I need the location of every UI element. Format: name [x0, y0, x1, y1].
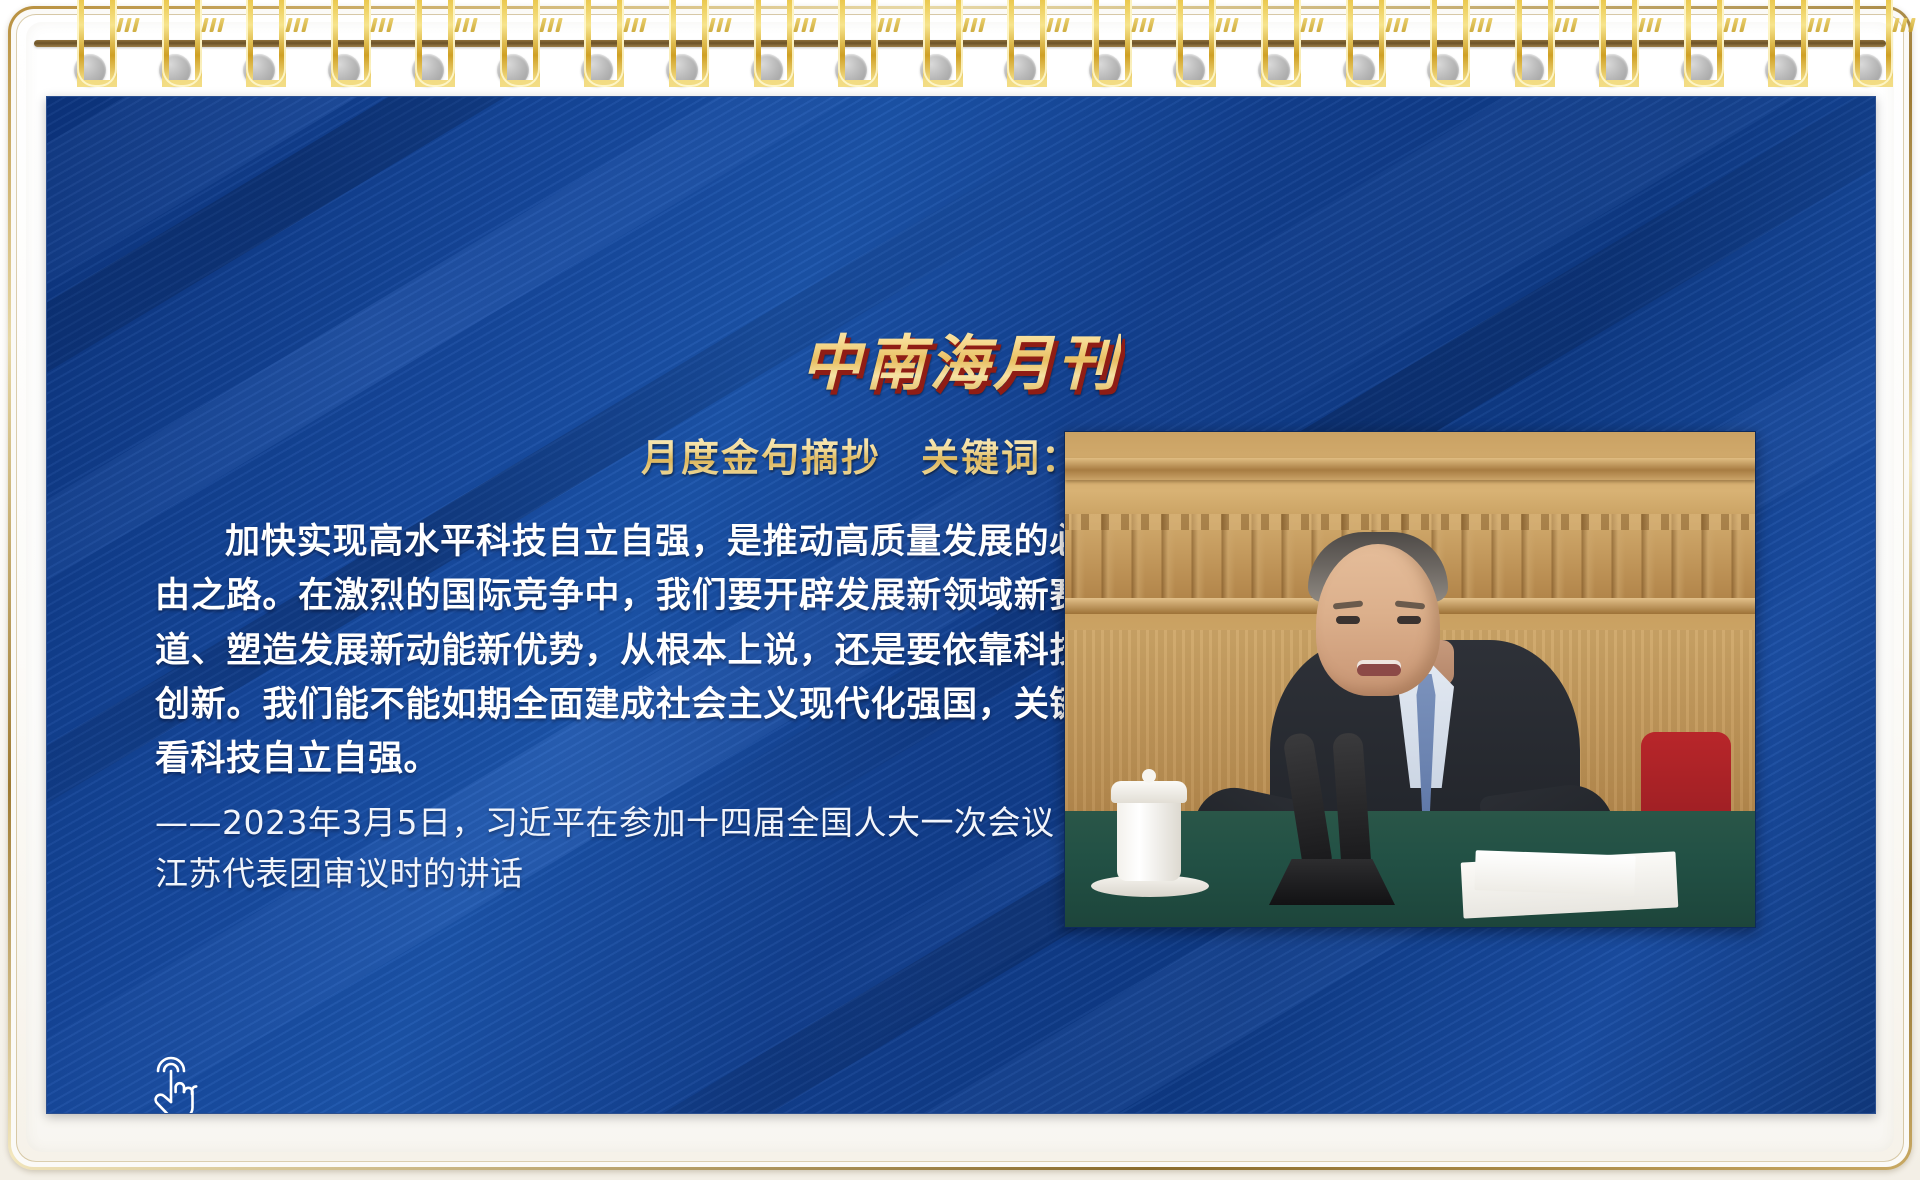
- tap-gesture-icon[interactable]: [142, 1052, 206, 1114]
- poster-card: 中南海月刊 月度金句摘抄 关键词：高质量发展 加快实现高水平科技自立自强，是推动…: [46, 96, 1876, 1114]
- title-container: 中南海月刊: [47, 315, 1875, 402]
- notebook-page: 中南海月刊 月度金句摘抄 关键词：高质量发展 加快实现高水平科技自立自强，是推动…: [0, 0, 1920, 1180]
- quote-container: 加快实现高水平科技自立自强，是推动高质量发展的必由之路。在激烈的国际竞争中，我们…: [155, 515, 1085, 786]
- photo-person-eye: [1336, 616, 1360, 624]
- photo-cornice: [1065, 458, 1755, 480]
- photo-person-eye: [1397, 616, 1421, 624]
- photo-person-mouth: [1357, 660, 1401, 676]
- photo-teacup: [1117, 797, 1181, 881]
- photo-teacup-lid: [1111, 781, 1187, 803]
- quote-attribution: ——2023年3月5日，习近平在参加十四届全国人大一次会议江苏代表团审议时的讲话: [155, 797, 1085, 899]
- leader-photo: [1064, 431, 1756, 928]
- photo-documents: [1474, 850, 1635, 896]
- poster-title: 中南海月刊: [801, 315, 1121, 402]
- quote-text: 加快实现高水平科技自立自强，是推动高质量发展的必由之路。在激烈的国际竞争中，我们…: [155, 515, 1085, 786]
